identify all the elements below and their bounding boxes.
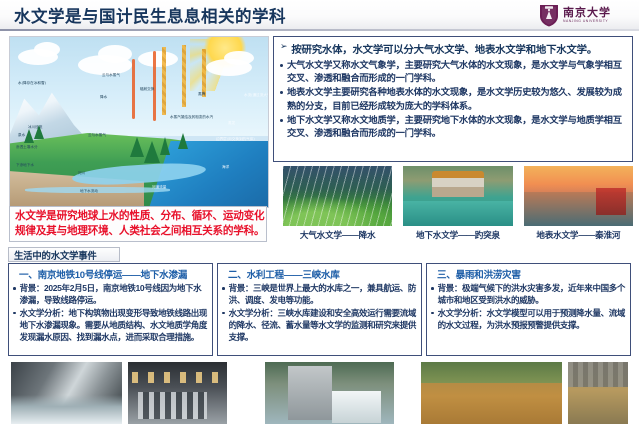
logo-english-name: NANJING UNIVERSITY xyxy=(563,20,611,23)
logo-chinese-name: 南京大学 xyxy=(563,7,611,18)
rain-photo xyxy=(283,166,392,226)
event-bullet: 水文学分析：水文学模型可以用于预测降水量、流域的水文过程，为洪水预报预警提供支撑… xyxy=(431,308,626,332)
event-bullet-text: 背景：三峡是世界上最大的水库之一，兼具航运、防洪、调度、发电等功能。 xyxy=(229,283,417,307)
bottom-photo-row xyxy=(0,360,639,426)
diagram-label: 河道流量 xyxy=(152,185,166,190)
page-title: 水文学是与国计民生息息相关的学科 xyxy=(14,3,286,27)
classification-heading: 按研究水体，水文学可以分大气水文学、地表水文学和地下水文学。 xyxy=(291,41,597,56)
diagram-tree xyxy=(178,133,188,149)
event-bullet: 背景：极端气候下的洪水灾害多发，近年来中国多个城市和地区受到洪水的威胁。 xyxy=(431,283,626,307)
diagram-label: 海洋 xyxy=(222,165,229,170)
section-banner: 生活中的水文学事件 xyxy=(8,247,120,262)
diagram-radiation-arrow xyxy=(162,47,166,115)
event-title: 三、暴雨和洪涝灾害 xyxy=(431,267,626,281)
university-logo: 南京大学 NANJING UNIVERSITY xyxy=(539,2,631,28)
diagram-tree xyxy=(130,137,144,157)
flooded-farmland-aerial-photo xyxy=(421,362,562,424)
event-bullet-text: 水文学分析：地下构筑物出现变形导致地铁线路出现地下水渗漏现象。需要从地质结构、水… xyxy=(20,308,208,344)
bullet-dot-icon xyxy=(431,312,434,315)
tunnel-inspection-workers-photo xyxy=(128,362,227,424)
water-cycle-diagram: 水(降存在冰和雪) 云与水蒸气 降水 辐射交换 云与水蒸气 蒸腾 水流(通过流大… xyxy=(9,36,269,208)
classification-item-text: 大气水文学又称水文气象学，主要研究大气水体的水文现象，是水文学与气象学相互交叉、… xyxy=(287,59,626,85)
bullet-dot-icon xyxy=(280,119,283,122)
qinhuai-river-photo xyxy=(524,166,633,226)
three-gorges-dam-photo xyxy=(265,362,394,424)
diagram-label: 河川 xyxy=(78,171,85,176)
event-card-flood: 三、暴雨和洪涝灾害 背景：极端气候下的洪水灾害多发，近年来中国多个城市和地区受到… xyxy=(426,263,631,356)
photo-caption-row: 大气水文学——降水 地下水文学——趵突泉 地表水文学——秦淮河 xyxy=(283,229,633,243)
diagram-cloud xyxy=(224,51,254,65)
diagram-label: 云与水蒸气 xyxy=(88,133,106,138)
diagram-cloud xyxy=(98,45,132,63)
diagram-cloud xyxy=(34,42,60,57)
event-bullet: 水文学分析：三峡水库建设和安全高效运行需要流域的降水、径流、蓄水量等水文学的监测… xyxy=(222,308,417,344)
subway-tunnel-leak-photo xyxy=(11,362,122,424)
shield-crest-icon xyxy=(539,3,559,27)
diagram-label: 水(降存在冰和雪) xyxy=(18,81,46,86)
photo-caption: 大气水文学——降水 xyxy=(283,229,392,243)
diagram-label: 渗透土壤水分 xyxy=(16,145,38,150)
diagram-radiation-arrow xyxy=(182,45,186,107)
event-bullet: 背景：2025年2月5日，南京地铁10号线因为地下水渗漏，导致线路停运。 xyxy=(13,283,208,307)
photo-caption: 地表水文学——秦淮河 xyxy=(524,229,633,243)
definition-line-1: 水文学是研究地球上水的性质、分布、循环、运动变化 xyxy=(15,209,261,224)
definition-line-2: 规律及其与地理环境、人类社会之间相互关系的学科。 xyxy=(15,224,261,239)
event-bullet-text: 水文学分析：水文学模型可以用于预测降水量、流域的水文过程，为洪水预报预警提供支撑… xyxy=(438,308,626,332)
event-title: 一、南京地铁10号线停运——地下水渗漏 xyxy=(13,267,208,281)
bullet-dot-icon xyxy=(13,287,16,290)
classification-item: 地表水文学主要研究各种地表水体的水文现象，是水文学历史较为悠久、发展较为成熟的分… xyxy=(280,86,626,112)
hydrology-photo-row xyxy=(283,166,633,226)
event-bullet-text: 水文学分析：三峡水库建设和安全高效运行需要流域的降水、径流、蓄水量等水文学的监测… xyxy=(229,308,417,344)
section-banner-label: 生活中的水文学事件 xyxy=(14,248,97,262)
event-card-three-gorges: 二、水利工程——三峡水库 背景：三峡是世界上最大的水库之一，兼具航运、防洪、调度… xyxy=(217,263,422,356)
diagram-tree xyxy=(160,137,170,155)
hydrology-definition-callout: 水文学是研究地球上水的性质、分布、循环、运动变化 规律及其与地理环境、人类社会之… xyxy=(9,206,267,242)
diagram-label: 蒸发 xyxy=(228,121,235,126)
event-bullet-text: 背景：2025年2月5日，南京地铁10号线因为地下水渗漏，导致线路停运。 xyxy=(20,283,208,307)
bullet-dot-icon xyxy=(280,64,283,67)
diagram-label: 下渗地下水 xyxy=(16,163,34,168)
flooded-city-street-photo xyxy=(568,362,628,424)
diagram-tree xyxy=(24,129,34,143)
event-bullet: 背景：三峡是世界上最大的水库之一，兼具航运、防洪、调度、发电等功能。 xyxy=(222,283,417,307)
diagram-radiation-arrow xyxy=(202,49,206,97)
diagram-label: 辐射交换 xyxy=(140,87,154,92)
arrow-bullet-icon: ➢ xyxy=(280,41,287,52)
diagram-cloud xyxy=(138,51,178,67)
diagram-label: 水流(通过流大气热量) xyxy=(244,93,269,98)
diagram-tree xyxy=(144,141,160,163)
diagram-label: 泉水 xyxy=(18,133,25,138)
event-bullet-text: 背景：极端气候下的洪水灾害多发，近年来中国多个城市和地区受到洪水的威胁。 xyxy=(438,283,626,307)
diagram-heat-arrow xyxy=(132,59,135,119)
diagram-label: 蒸腾 xyxy=(198,92,205,97)
photo-caption: 地下水文学——趵突泉 xyxy=(403,229,512,243)
bullet-dot-icon xyxy=(222,287,225,290)
event-bullet: 水文学分析：地下构筑物出现变形导致地铁线路出现地下水渗漏现象。需要从地质结构、水… xyxy=(13,308,208,344)
logo-wordmark: 南京大学 NANJING UNIVERSITY xyxy=(563,7,611,23)
slide-header: 水文学是与国计民生息息相关的学科 南京大学 NANJING UNIVERSITY xyxy=(0,0,639,31)
event-title: 二、水利工程——三峡水库 xyxy=(222,267,417,281)
diagram-heat-arrow xyxy=(153,51,156,121)
baotu-spring-photo xyxy=(403,166,512,226)
classification-item-text: 地表水文学主要研究各种地表水体的水文现象，是水文学历史较为悠久、发展较为成熟的分… xyxy=(287,86,626,112)
classification-item: 大气水文学又称水文气象学，主要研究大气水体的水文现象，是水文学与气象学相互交叉、… xyxy=(280,59,626,85)
event-card-subway: 一、南京地铁10号线停运——地下水渗漏 背景：2025年2月5日，南京地铁10号… xyxy=(8,263,213,356)
diagram-label: 地下水流动 xyxy=(80,189,98,194)
diagram-label: 冰川径流 xyxy=(28,125,42,130)
bullet-dot-icon xyxy=(222,312,225,315)
event-columns: 一、南京地铁10号线停运——地下水渗漏 背景：2025年2月5日，南京地铁10号… xyxy=(8,263,631,356)
diagram-label: 边界层(用交换到的气体) xyxy=(216,137,255,142)
classification-item: 地下水文学又称水文地质学，主要研究地下水体的水文现象，是水文学与地质学相互交叉、… xyxy=(280,114,626,140)
diagram-label: 降水 xyxy=(100,95,107,100)
classification-heading-row: ➢ 按研究水体，水文学可以分大气水文学、地表水文学和地下水文学。 xyxy=(280,41,626,56)
classification-item-text: 地下水文学又称水文地质学，主要研究地下水体的水文现象，是水文学与地质学相互交叉、… xyxy=(287,114,626,140)
bullet-dot-icon xyxy=(431,287,434,290)
bullet-dot-icon xyxy=(280,91,283,94)
diagram-label: 云与水蒸气 xyxy=(102,73,120,78)
header-divider xyxy=(0,29,639,31)
classification-panel: ➢ 按研究水体，水文学可以分大气水文学、地表水文学和地下水文学。 大气水文学又称… xyxy=(273,36,633,162)
diagram-label: 水蒸汽凝结及其相变的水汽 xyxy=(170,115,213,120)
bullet-dot-icon xyxy=(13,312,16,315)
